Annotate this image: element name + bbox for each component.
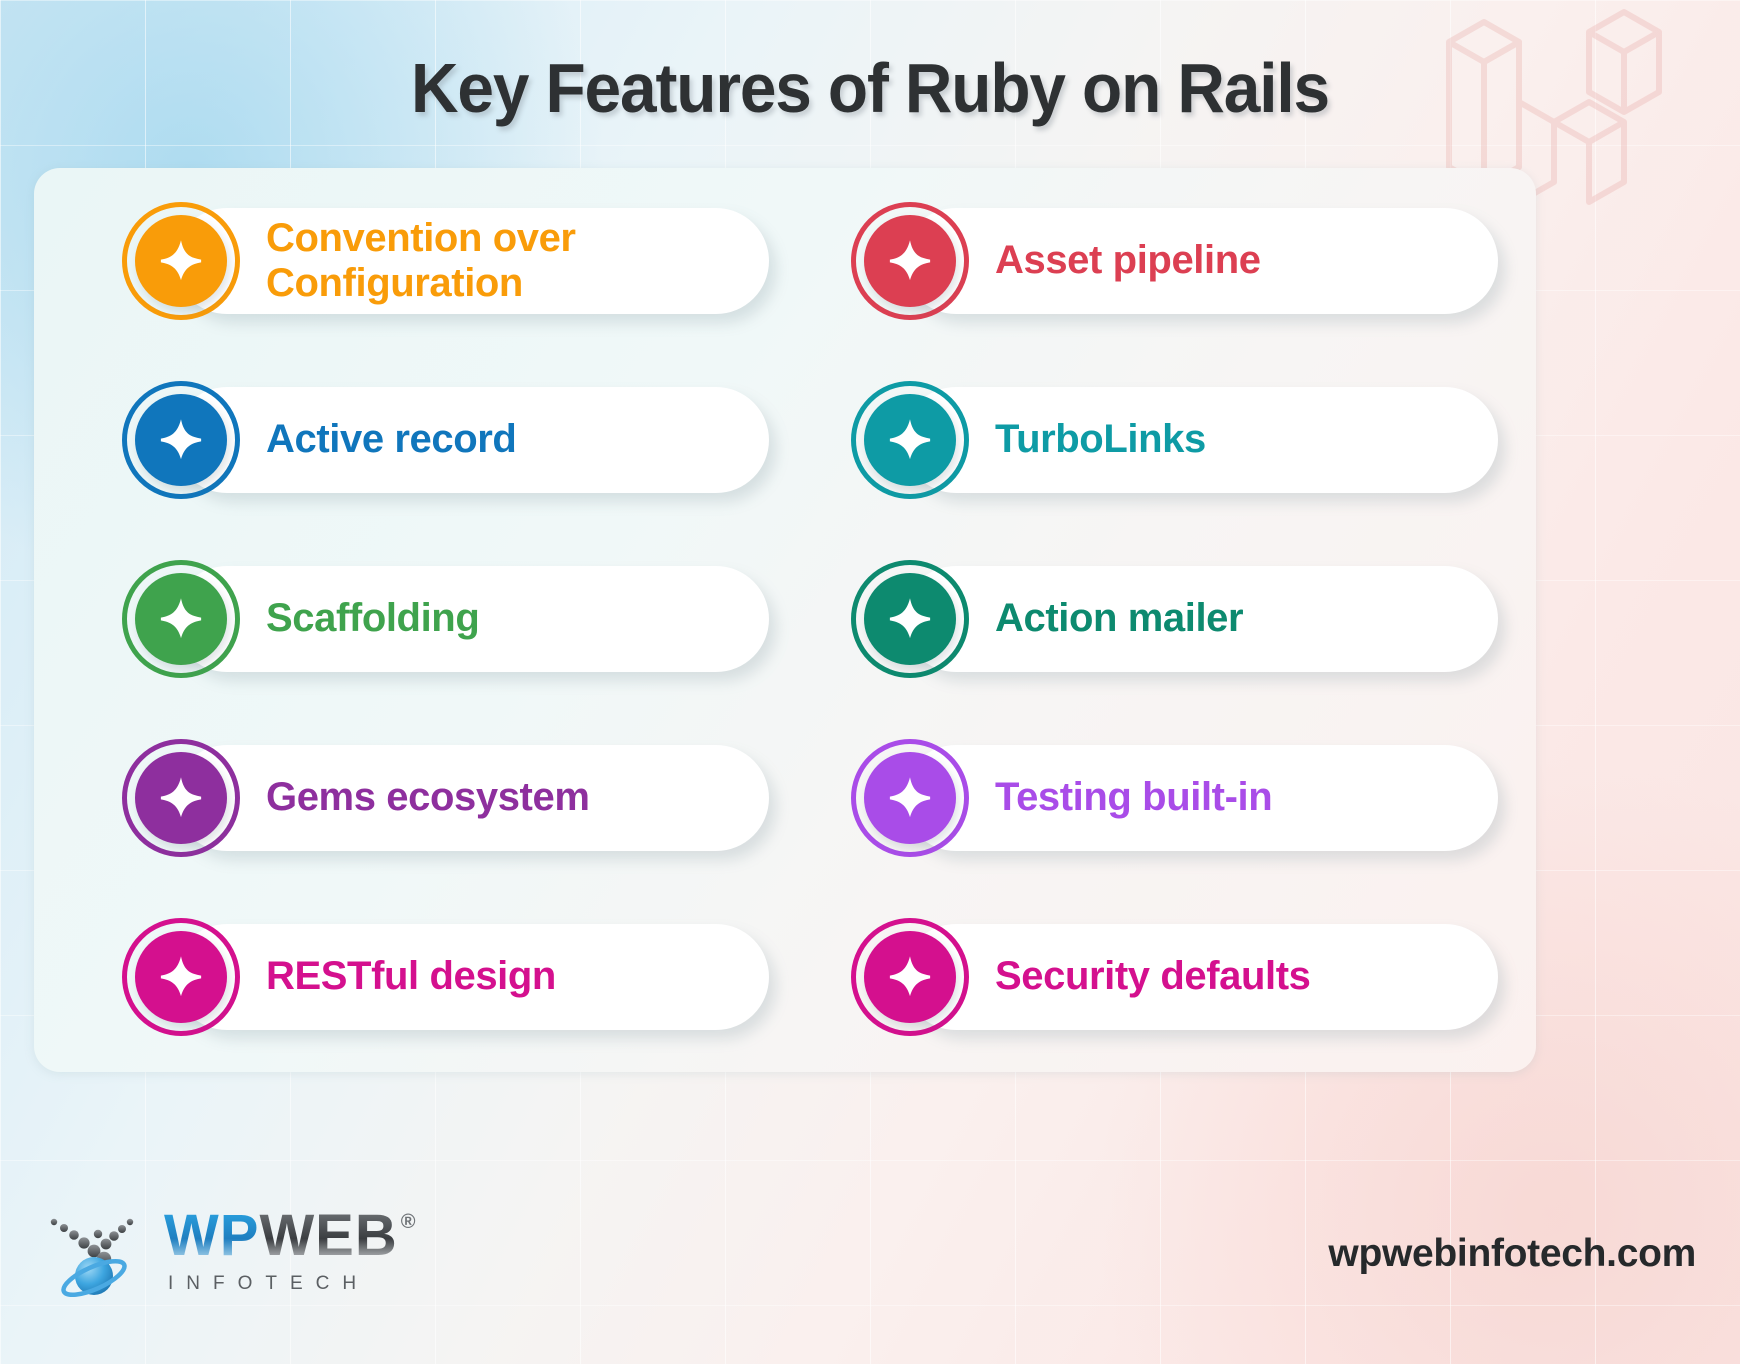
sparkle-icon xyxy=(122,918,240,1036)
sparkle-icon xyxy=(851,560,969,678)
wpweb-logo-mark-icon xyxy=(42,1200,154,1304)
registered-mark: ® xyxy=(401,1213,417,1231)
sparkle-icon xyxy=(122,202,240,320)
feature-label: TurboLinks xyxy=(995,417,1206,462)
feature-item[interactable]: Convention over Configuration xyxy=(122,200,769,322)
infographic-canvas: Key Features of Ruby on Rails Convention… xyxy=(0,0,1740,1364)
feature-label: Convention over Configuration xyxy=(266,216,576,306)
feature-item[interactable]: Active record xyxy=(122,379,769,501)
features-column-right: Asset pipelineTurboLinksAction mailerTes… xyxy=(851,200,1498,1038)
sparkle-icon xyxy=(122,560,240,678)
feature-label: Testing built-in xyxy=(995,775,1272,820)
feature-item[interactable]: Gems ecosystem xyxy=(122,737,769,859)
sparkle-icon xyxy=(851,918,969,1036)
feature-item[interactable]: RESTful design xyxy=(122,916,769,1038)
sparkle-icon xyxy=(122,381,240,499)
footer: WP WEB ® INFOTECH wpwebinfotech.com xyxy=(0,1074,1740,1364)
feature-item[interactable]: Action mailer xyxy=(851,558,1498,680)
website-url[interactable]: wpwebinfotech.com xyxy=(1328,1232,1696,1276)
feature-label: Security defaults xyxy=(995,954,1311,999)
page-title: Key Features of Ruby on Rails xyxy=(52,48,1688,128)
logo-web-text: WEB xyxy=(259,1209,397,1262)
feature-label: Gems ecosystem xyxy=(266,775,589,820)
sparkle-icon xyxy=(851,381,969,499)
feature-label: RESTful design xyxy=(266,954,556,999)
feature-label: Asset pipeline xyxy=(995,238,1261,283)
wpweb-logo[interactable]: WP WEB ® INFOTECH xyxy=(42,1200,417,1304)
feature-label: Scaffolding xyxy=(266,596,479,641)
sparkle-icon xyxy=(122,739,240,857)
logo-tagline: INFOTECH xyxy=(168,1273,417,1295)
feature-item[interactable]: Testing built-in xyxy=(851,737,1498,859)
feature-label: Active record xyxy=(266,417,516,462)
feature-item[interactable]: TurboLinks xyxy=(851,379,1498,501)
feature-label: Action mailer xyxy=(995,596,1243,641)
features-column-left: Convention over ConfigurationActive reco… xyxy=(122,200,769,1038)
features-panel: Convention over ConfigurationActive reco… xyxy=(34,168,1536,1072)
logo-wp-text: WP xyxy=(164,1209,259,1262)
feature-item[interactable]: Scaffolding xyxy=(122,558,769,680)
feature-item[interactable]: Security defaults xyxy=(851,916,1498,1038)
feature-item[interactable]: Asset pipeline xyxy=(851,200,1498,322)
sparkle-icon xyxy=(851,739,969,857)
sparkle-icon xyxy=(851,202,969,320)
